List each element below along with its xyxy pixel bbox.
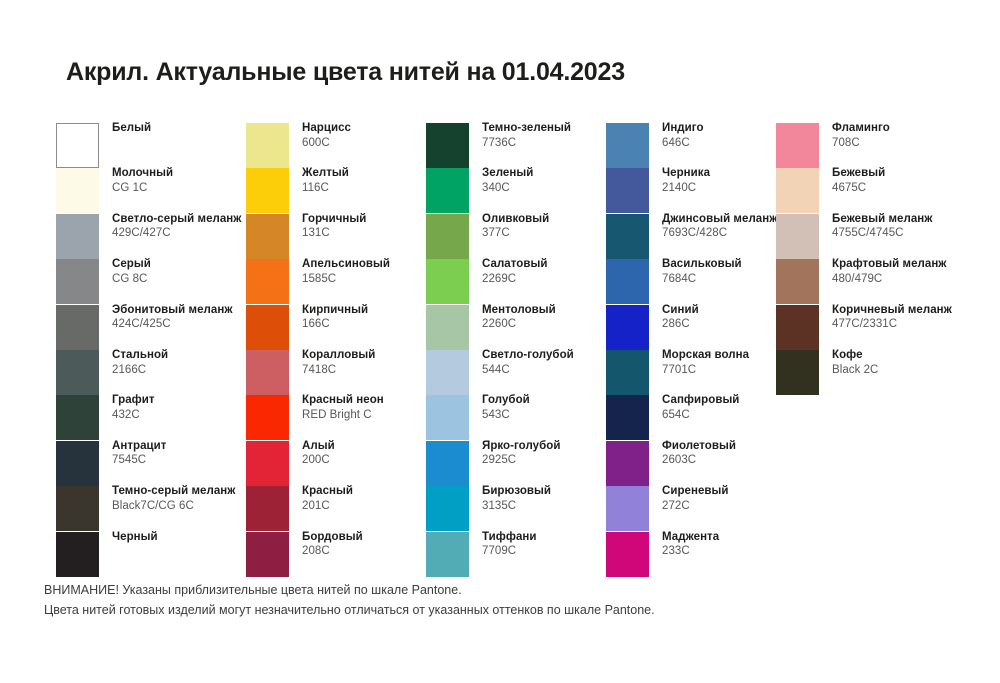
swatch-labels: Белый <box>112 121 262 136</box>
swatch-name: Светло-серый меланж <box>112 212 262 227</box>
swatch-labels: Темно-серый меланжBlack7C/CG 6C <box>112 484 262 513</box>
color-swatch[interactable] <box>246 305 289 350</box>
swatch-name: Антрацит <box>112 439 262 454</box>
swatch-labels: Бежевый меланж4755C/4745C <box>832 212 1000 241</box>
swatch-name: Сапфировый <box>662 393 802 408</box>
swatch-labels: СерыйCG 8C <box>112 257 262 286</box>
footer-notice: ВНИМАНИЕ! Указаны приблизительные цвета … <box>44 580 655 620</box>
color-swatch[interactable] <box>606 350 649 395</box>
swatch-name: Бежевый меланж <box>832 212 1000 227</box>
swatch-labels: Коричневый меланж477C/2331C <box>832 303 1000 332</box>
color-swatch[interactable] <box>246 214 289 259</box>
swatch-pantone-code: 708C <box>832 136 1000 151</box>
swatch-name: Коричневый меланж <box>832 303 1000 318</box>
color-swatch[interactable] <box>56 486 99 531</box>
color-swatch[interactable] <box>606 168 649 213</box>
swatch-pantone-code: CG 8C <box>112 272 262 287</box>
swatch-pantone-code: 233C <box>662 544 802 559</box>
color-swatch[interactable] <box>776 305 819 350</box>
swatch-pantone-code: 2166C <box>112 363 262 378</box>
swatch-name: Графит <box>112 393 262 408</box>
swatch-labels: Антрацит7545C <box>112 439 262 468</box>
swatch-labels: Сапфировый654C <box>662 393 802 422</box>
swatch-pantone-code: 432C <box>112 408 262 423</box>
swatch-labels: Светло-серый меланж429C/427C <box>112 212 262 241</box>
swatch-pantone-code: 654C <box>662 408 802 423</box>
swatch-pantone-code: 2603C <box>662 453 802 468</box>
color-swatch[interactable] <box>606 123 649 168</box>
color-swatch[interactable] <box>426 214 469 259</box>
swatch-name: Сиреневый <box>662 484 802 499</box>
color-swatch[interactable] <box>426 532 469 577</box>
color-swatch[interactable] <box>246 486 289 531</box>
color-swatch[interactable] <box>606 259 649 304</box>
color-swatch[interactable] <box>56 214 99 259</box>
swatch-pantone-code: Black 2C <box>832 363 1000 378</box>
color-swatch[interactable] <box>246 532 289 577</box>
swatch-pantone-code: 272C <box>662 499 802 514</box>
color-swatch[interactable] <box>246 123 289 168</box>
color-swatch[interactable] <box>776 259 819 304</box>
color-swatch[interactable] <box>606 305 649 350</box>
color-swatch[interactable] <box>426 305 469 350</box>
color-swatch[interactable] <box>426 168 469 213</box>
swatch-labels: Маджента233C <box>662 530 802 559</box>
color-swatch[interactable] <box>606 532 649 577</box>
color-swatch[interactable] <box>426 259 469 304</box>
swatch-labels: Фламинго708C <box>832 121 1000 150</box>
swatch-name: Фламинго <box>832 121 1000 136</box>
color-swatch[interactable] <box>56 395 99 440</box>
swatch-pantone-code: CG 1C <box>112 181 262 196</box>
swatch-name: Белый <box>112 121 262 136</box>
swatch-labels: Черный <box>112 530 262 545</box>
swatch-labels: Стальной2166C <box>112 348 262 377</box>
swatch-name: Черный <box>112 530 262 545</box>
swatch-pantone-code: 7545C <box>112 453 262 468</box>
color-swatch[interactable] <box>426 350 469 395</box>
swatch-name: Бежевый <box>832 166 1000 181</box>
swatch-name: Маджента <box>662 530 802 545</box>
color-swatch[interactable] <box>426 123 469 168</box>
swatch-labels: КофеBlack 2C <box>832 348 1000 377</box>
swatch-labels: Графит432C <box>112 393 262 422</box>
swatch-labels: Бежевый4675C <box>832 166 1000 195</box>
color-swatch[interactable] <box>606 395 649 440</box>
color-swatch[interactable] <box>606 486 649 531</box>
swatch-pantone-code: 429C/427C <box>112 226 262 241</box>
swatch-name: Эбонитовый меланж <box>112 303 262 318</box>
swatch-labels: Эбонитовый меланж424C/425C <box>112 303 262 332</box>
color-swatch[interactable] <box>246 441 289 486</box>
color-swatch[interactable] <box>56 168 99 213</box>
footer-line-1: ВНИМАНИЕ! Указаны приблизительные цвета … <box>44 580 655 600</box>
swatch-pantone-code: Black7C/CG 6C <box>112 499 262 514</box>
color-swatch[interactable] <box>56 441 99 486</box>
color-swatch[interactable] <box>426 486 469 531</box>
swatch-pantone-code: 424C/425C <box>112 317 262 332</box>
swatch-pantone-code: 480/479C <box>832 272 1000 287</box>
swatch-pantone-code: 4755C/4745C <box>832 226 1000 241</box>
swatch-labels: МолочныйCG 1C <box>112 166 262 195</box>
color-swatch[interactable] <box>246 350 289 395</box>
swatch-name: Крафтовый меланж <box>832 257 1000 272</box>
color-swatch[interactable] <box>56 532 99 577</box>
color-swatch[interactable] <box>246 259 289 304</box>
color-swatch[interactable] <box>426 441 469 486</box>
color-swatch[interactable] <box>776 123 819 168</box>
color-swatch[interactable] <box>246 395 289 440</box>
swatch-name: Фиолетовый <box>662 439 802 454</box>
swatch-name: Темно-серый меланж <box>112 484 262 499</box>
color-swatch[interactable] <box>776 214 819 259</box>
color-swatch[interactable] <box>56 259 99 304</box>
swatch-name: Серый <box>112 257 262 272</box>
color-swatch[interactable] <box>56 350 99 395</box>
color-chart-page: Акрил. Актуальные цвета нитей на 01.04.2… <box>0 0 1000 683</box>
swatch-labels: Фиолетовый2603C <box>662 439 802 468</box>
color-swatch[interactable] <box>426 395 469 440</box>
footer-line-2: Цвета нитей готовых изделий могут незнач… <box>44 600 655 620</box>
color-swatch[interactable] <box>606 441 649 486</box>
swatch-pantone-code: 477C/2331C <box>832 317 1000 332</box>
swatch-labels: Сиреневый272C <box>662 484 802 513</box>
color-swatch[interactable] <box>776 168 819 213</box>
color-swatch[interactable] <box>246 168 289 213</box>
swatch-name: Кофе <box>832 348 1000 363</box>
swatch-labels: Крафтовый меланж480/479C <box>832 257 1000 286</box>
color-swatch[interactable] <box>56 123 99 168</box>
color-swatch[interactable] <box>776 350 819 395</box>
swatch-pantone-code: 4675C <box>832 181 1000 196</box>
color-swatch[interactable] <box>606 214 649 259</box>
swatch-name: Молочный <box>112 166 262 181</box>
color-swatch[interactable] <box>56 305 99 350</box>
page-title: Акрил. Актуальные цвета нитей на 01.04.2… <box>66 58 625 87</box>
swatch-name: Стальной <box>112 348 262 363</box>
